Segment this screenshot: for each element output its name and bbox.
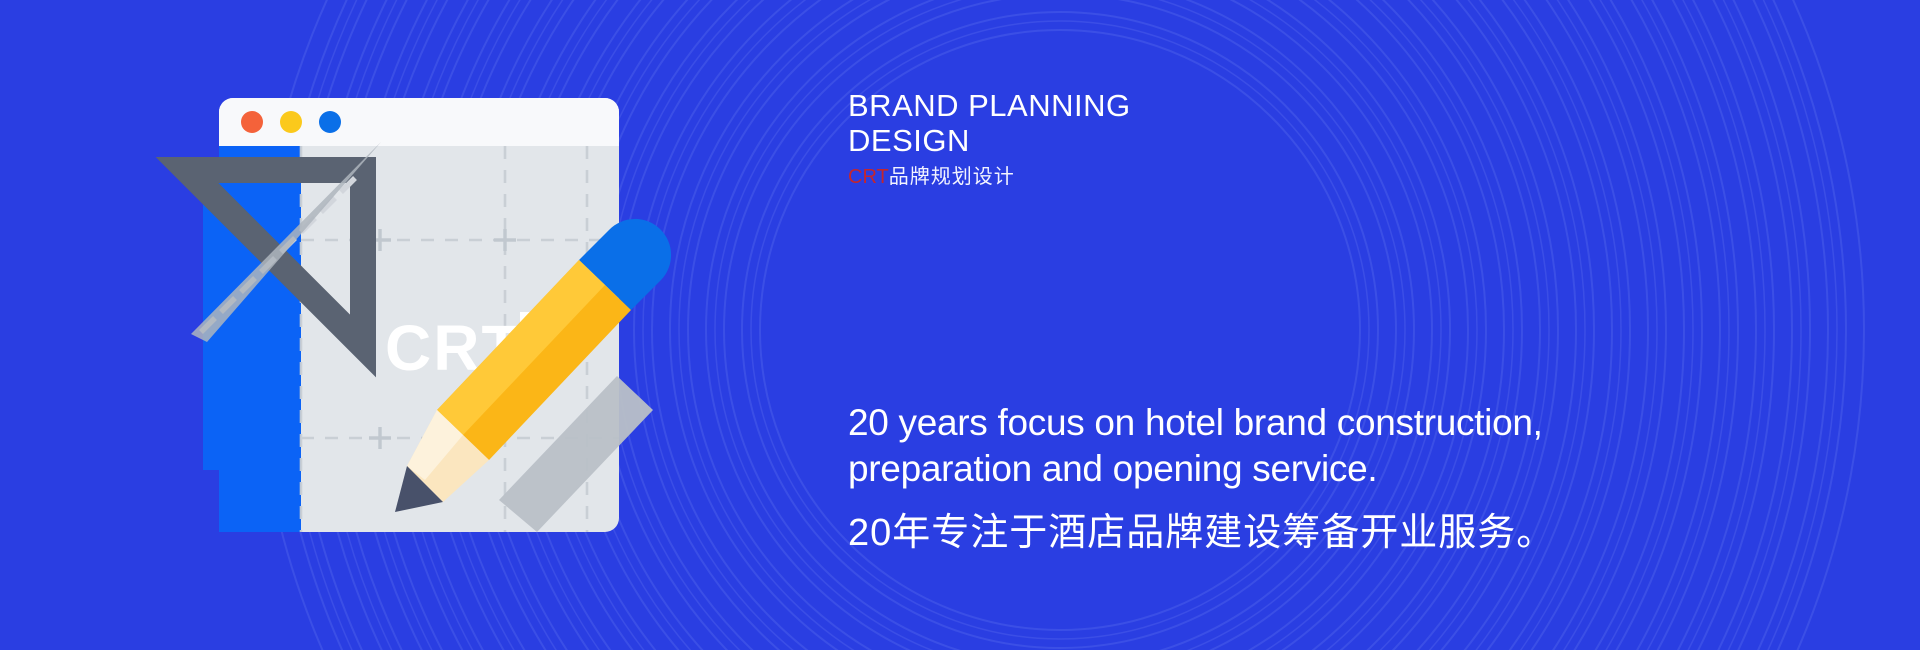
maximize-dot — [319, 111, 341, 133]
brand-design-illustration: CRT — [185, 80, 685, 570]
minimize-dot — [280, 111, 302, 133]
banner-text-column: BRAND PLANNING DESIGN CRT品牌规划设计 20 years… — [848, 0, 1848, 650]
window-titlebar — [219, 98, 619, 146]
headline-line-2: DESIGN — [848, 123, 1488, 158]
headline-subtitle: CRT品牌规划设计 — [848, 165, 1488, 189]
tagline-en-line-1: 20 years focus on hotel brand constructi… — [848, 400, 1728, 446]
window-traffic-lights — [241, 111, 341, 133]
headline-line-1: BRAND PLANNING — [848, 88, 1488, 123]
tagline-en-line-2: preparation and opening service. — [848, 446, 1728, 492]
headline-subtitle-cn: 品牌规划设计 — [889, 166, 1015, 188]
tagline-cn: 20年专注于酒店品牌建设筹备开业服务。 — [848, 510, 1728, 556]
headline-brand-mark: CRT — [848, 166, 889, 188]
headline-group: BRAND PLANNING DESIGN CRT品牌规划设计 — [848, 88, 1488, 189]
tagline-group: 20 years focus on hotel brand constructi… — [848, 400, 1728, 556]
close-dot — [241, 111, 263, 133]
brand-banner: CRT — [0, 0, 1920, 650]
